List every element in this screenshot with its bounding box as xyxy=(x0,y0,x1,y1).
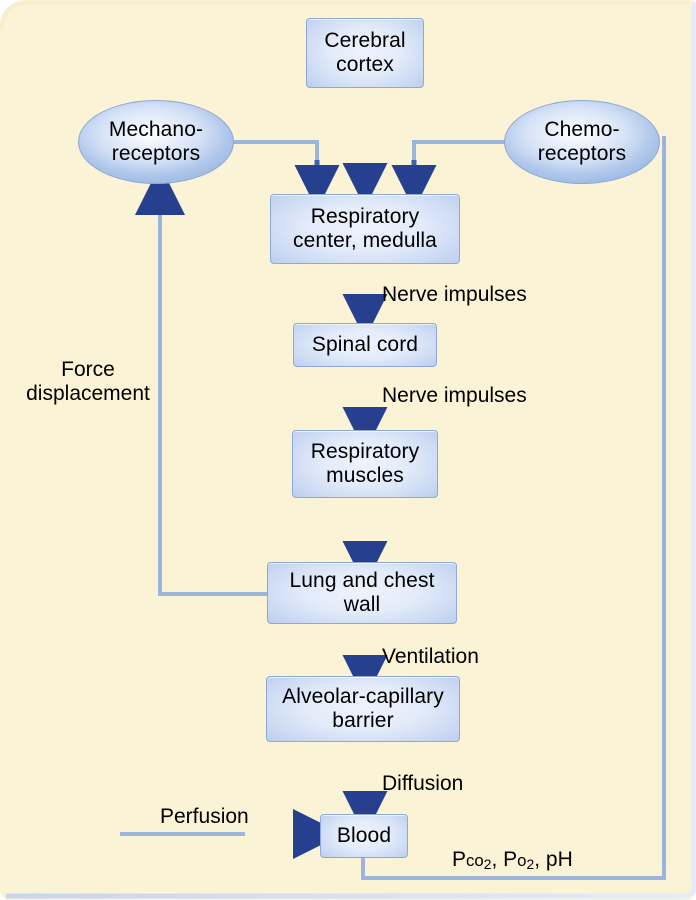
edge-label-diffusion: Diffusion xyxy=(382,772,463,796)
force-displacement-line2: displacement xyxy=(26,382,150,405)
respiratory-muscles-line2: muscles xyxy=(326,464,404,487)
ph-label: pH xyxy=(546,848,573,871)
respiratory-center-line1: Respiratory xyxy=(311,205,419,228)
node-alveolar-capillary-barrier[interactable]: Alveolar-capillary barrier xyxy=(266,676,460,742)
lung-chest-wall-line2: wall xyxy=(344,593,381,616)
link-chemo-to-center xyxy=(414,142,506,188)
edge-label-ventilation: Ventilation xyxy=(382,645,479,669)
force-displacement-line1: Force xyxy=(61,358,115,381)
edge-label-force-displacement: Force displacement xyxy=(24,358,152,405)
respiratory-muscles-line1: Respiratory xyxy=(311,440,419,463)
alveolar-capillary-line2: barrier xyxy=(332,709,393,732)
pco2-label: Pco2 xyxy=(452,848,491,871)
link-mechano-to-center xyxy=(233,142,317,188)
cerebral-cortex-line2: cortex xyxy=(336,53,394,76)
mechanoreceptors-line2: receptors xyxy=(112,142,200,165)
blood-label: Blood xyxy=(337,824,391,848)
chemoreceptors-line1: Chemo- xyxy=(544,118,619,141)
node-chemoreceptors[interactable]: Chemo- receptors xyxy=(504,100,660,184)
edge-label-nerve-impulses-1: Nerve impulses xyxy=(382,283,527,307)
edge-label-nerve-impulses-2: Nerve impulses xyxy=(382,384,527,408)
lung-chest-wall-line1: Lung and chest xyxy=(289,569,434,592)
node-spinal-cord[interactable]: Spinal cord xyxy=(293,323,437,367)
node-mechanoreceptors[interactable]: Mechano- receptors xyxy=(78,100,234,184)
cerebral-cortex-line1: Cerebral xyxy=(324,29,405,52)
node-respiratory-center[interactable]: Respiratory center, medulla xyxy=(270,194,460,264)
edge-label-perfusion: Perfusion xyxy=(160,805,249,829)
link-lung-to-mechano xyxy=(160,195,269,594)
node-lung-and-chest-wall[interactable]: Lung and chest wall xyxy=(267,562,457,624)
node-blood[interactable]: Blood xyxy=(320,814,408,858)
spinal-cord-label: Spinal cord xyxy=(312,333,418,357)
alveolar-capillary-line1: Alveolar-capillary xyxy=(282,685,444,708)
mechanoreceptors-line1: Mechano- xyxy=(109,118,203,141)
diagram-canvas: Cerebral cortex Mechano- receptors Chemo… xyxy=(0,0,696,900)
node-respiratory-muscles[interactable]: Respiratory muscles xyxy=(292,430,438,498)
node-cerebral-cortex[interactable]: Cerebral cortex xyxy=(306,18,424,88)
blood-gas-values: Pco2, Po2, pH xyxy=(452,848,573,873)
chemoreceptors-line2: receptors xyxy=(538,142,626,165)
po2-label: Po2 xyxy=(503,848,534,871)
respiratory-center-line2: center, medulla xyxy=(293,229,437,252)
